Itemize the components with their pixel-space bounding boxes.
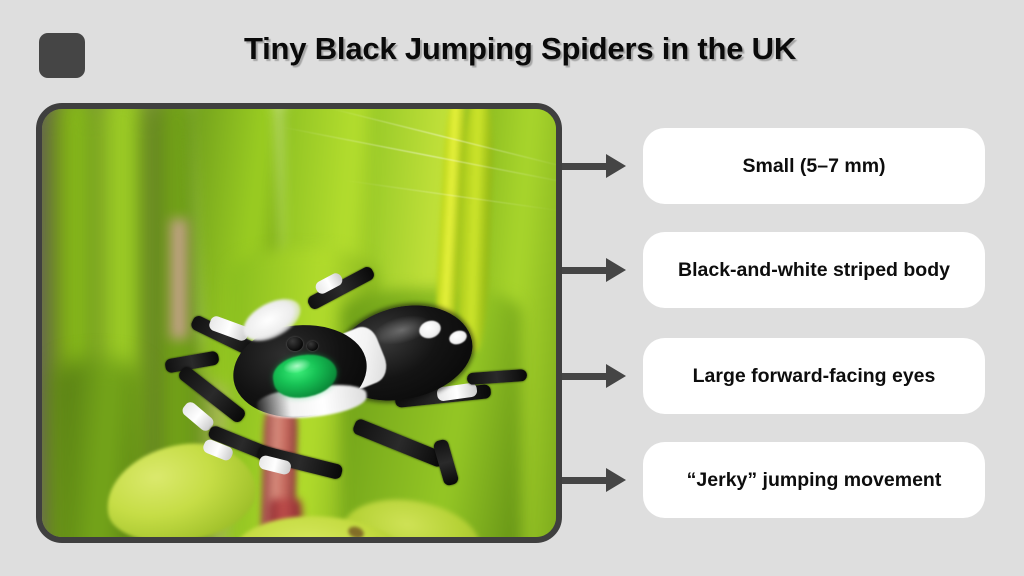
arrow-shaft: [562, 373, 610, 380]
page-title: Tiny Black Jumping Spiders in the UK: [110, 31, 930, 67]
arrow-right-icon: [606, 154, 626, 178]
callout-box-movement[interactable]: “Jerky” jumping movement: [643, 442, 985, 518]
spider-photo-frame: [36, 103, 562, 543]
callout-box-body[interactable]: Black-and-white striped body: [643, 232, 985, 308]
arrow-right-icon: [606, 364, 626, 388]
rounded-square-marker-icon: [39, 33, 85, 78]
arrow-shaft: [562, 163, 610, 170]
arrow-right-icon: [606, 468, 626, 492]
jumping-spider-macro-photo: [42, 109, 556, 537]
spider-eye: [287, 337, 303, 351]
header: Tiny Black Jumping Spiders in the UK: [0, 0, 1024, 100]
callout-label: “Jerky” jumping movement: [687, 468, 942, 493]
spider-eye: [307, 341, 318, 351]
callout-box-eyes[interactable]: Large forward-facing eyes: [643, 338, 985, 414]
spider-leg: [351, 418, 446, 469]
callout-label: Small (5–7 mm): [742, 154, 885, 179]
callout-label: Black-and-white striped body: [678, 258, 950, 283]
callout-label: Large forward-facing eyes: [693, 364, 936, 389]
jumping-spider: [137, 259, 517, 537]
callout-box-size[interactable]: Small (5–7 mm): [643, 128, 985, 204]
arrow-shaft: [562, 477, 610, 484]
arrow-right-icon: [606, 258, 626, 282]
arrow-shaft: [562, 267, 610, 274]
